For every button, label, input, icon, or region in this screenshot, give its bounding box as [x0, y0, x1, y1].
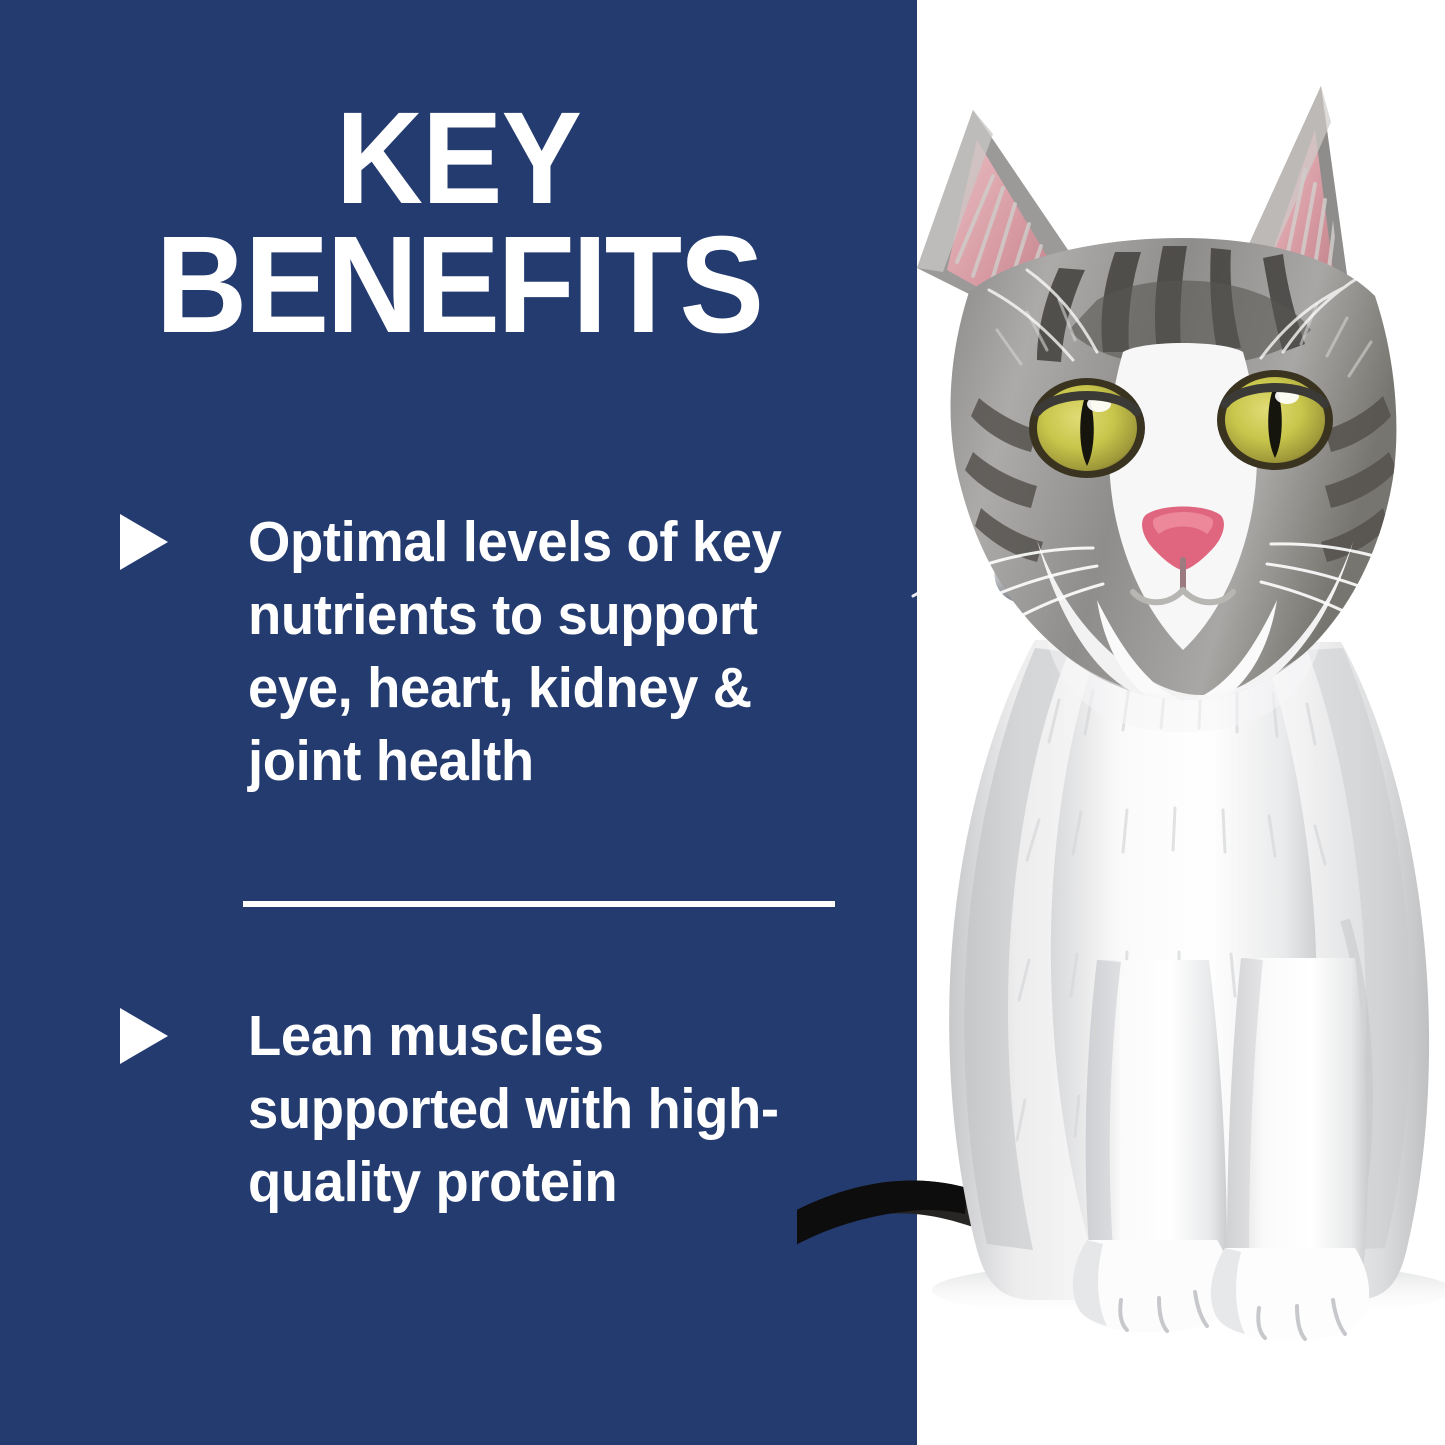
play-triangle-icon — [118, 1006, 170, 1066]
benefit-item-2: Lean muscles supported with high-quality… — [118, 1000, 878, 1219]
benefit-item-2-text: Lean muscles supported with high-quality… — [248, 1000, 850, 1219]
cat-photo — [797, 0, 1445, 1445]
cat-photo-area — [917, 0, 1445, 1445]
play-triangle-icon — [118, 512, 170, 572]
cat-right-eye — [1217, 370, 1333, 470]
page-title-line-2: BENEFITS — [37, 220, 881, 351]
page-title-line-1: KEY — [37, 96, 881, 220]
benefit-item-1: Optimal levels of key nutrients to suppo… — [118, 506, 878, 798]
benefit-item-1-text: Optimal levels of key nutrients to suppo… — [248, 506, 850, 798]
key-benefits-promo-image: KEY BENEFITS Optimal levels of key nutri… — [0, 0, 1445, 1445]
benefits-divider — [243, 901, 835, 907]
page-title: KEY BENEFITS — [37, 96, 881, 352]
cat-head — [913, 238, 1445, 714]
cat-left-eye — [1029, 378, 1145, 478]
